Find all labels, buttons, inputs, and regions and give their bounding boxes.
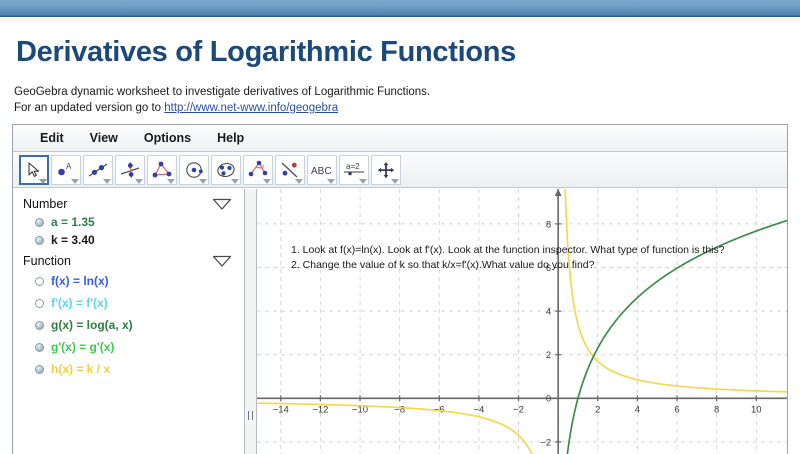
menu-help[interactable]: Help — [204, 129, 257, 147]
visibility-toggle-icon[interactable] — [35, 277, 44, 286]
algebra-item-g-label: g(x) = log(a, x) — [51, 318, 133, 332]
svg-text:10: 10 — [751, 404, 762, 415]
algebra-item-h-label: h(x) = k / x — [51, 362, 110, 376]
svg-text:−2: −2 — [513, 404, 524, 415]
graphics-view[interactable]: −14−12−10−8−6−4−2246810−202468 1. Look a… — [257, 189, 788, 454]
line-through-two-points-icon[interactable] — [83, 155, 113, 185]
svg-text:2: 2 — [546, 350, 551, 361]
algebra-view[interactable]: Number a = 1.35 k = 3.40 Function — [13, 189, 245, 454]
algebra-group-function-label: Function — [23, 254, 71, 268]
svg-text:A: A — [66, 162, 72, 171]
tool-dropdown-corner[interactable] — [327, 179, 335, 184]
menu-bar: Edit View Options Help — [13, 125, 787, 152]
tool-dropdown-corner[interactable] — [263, 179, 271, 184]
algebra-item-f-label: f(x) = ln(x) — [51, 274, 109, 288]
menu-edit[interactable]: Edit — [27, 129, 77, 147]
visibility-toggle-icon[interactable] — [35, 236, 44, 245]
svg-text:−12: −12 — [312, 404, 328, 415]
coordinate-plane[interactable]: −14−12−10−8−6−4−2246810−202468 — [257, 189, 788, 454]
menu-view[interactable]: View — [77, 129, 131, 147]
svg-text:−4: −4 — [473, 404, 484, 415]
angle-icon[interactable]: α — [243, 155, 273, 185]
top-bar-shadow — [0, 18, 800, 24]
tool-dropdown-corner[interactable] — [135, 179, 143, 184]
algebra-group-function-header[interactable]: Function — [13, 252, 244, 270]
reflect-object-icon[interactable] — [275, 155, 305, 185]
polygon-icon[interactable] — [147, 155, 177, 185]
svg-text:8: 8 — [714, 404, 719, 415]
split-pane: Number a = 1.35 k = 3.40 Function — [13, 189, 788, 454]
algebra-item-gprime[interactable]: g'(x) = g'(x) — [13, 336, 244, 358]
browser-top-blue-bar — [0, 0, 800, 17]
geogebra-link[interactable]: http://www.net-www.info/geogebra — [164, 102, 338, 114]
algebra-item-h[interactable]: h(x) = k / x — [13, 358, 244, 380]
visibility-toggle-icon[interactable] — [35, 365, 44, 374]
svg-text:−8: −8 — [394, 404, 405, 415]
tool-dropdown-corner[interactable] — [359, 179, 367, 184]
instruction-line-2: 2. Change the value of k so that k/x=f'(… — [291, 258, 725, 273]
conic-five-points-icon[interactable] — [211, 155, 241, 185]
geogebra-applet[interactable]: Edit View Options Help A — [12, 124, 788, 454]
new-point-icon[interactable]: A — [51, 155, 81, 185]
tool-dropdown-corner[interactable] — [103, 179, 111, 184]
subtitle-line-2-prefix: For an updated version go to — [14, 102, 164, 114]
algebra-item-k-label: k = 3.40 — [51, 233, 95, 247]
splitter-grip-icon[interactable] — [248, 411, 253, 420]
svg-text:6: 6 — [674, 404, 679, 415]
triangle-down-icon[interactable] — [212, 255, 232, 267]
tool-bar: A — [13, 152, 787, 188]
tool-dropdown-corner[interactable] — [295, 179, 303, 184]
insert-text-abc-icon[interactable]: ABC — [307, 155, 337, 185]
pane-splitter[interactable] — [245, 189, 257, 454]
menu-options[interactable]: Options — [131, 129, 204, 147]
subtitle-line-1: GeoGebra dynamic worksheet to investigat… — [14, 84, 430, 100]
svg-text:−14: −14 — [273, 404, 289, 415]
algebra-item-fprime[interactable]: f'(x) = f'(x) — [13, 292, 244, 314]
subtitle-line-2: For an updated version go to http://www.… — [14, 100, 430, 116]
svg-text:8: 8 — [546, 219, 551, 230]
svg-text:−2: −2 — [540, 437, 551, 448]
perpendicular-line-icon[interactable] — [115, 155, 145, 185]
instruction-line-1: 1. Look at f(x)=ln(x). Look at f'(x). Lo… — [291, 243, 725, 258]
visibility-toggle-icon[interactable] — [35, 218, 44, 227]
circle-center-point-icon[interactable] — [179, 155, 209, 185]
page-subtitle: GeoGebra dynamic worksheet to investigat… — [14, 84, 430, 116]
svg-text:2: 2 — [595, 404, 600, 415]
algebra-group-number-header[interactable]: Number — [13, 195, 244, 213]
tool-dropdown-corner[interactable] — [231, 179, 239, 184]
svg-text:ABC: ABC — [311, 166, 332, 177]
visibility-toggle-icon[interactable] — [35, 343, 44, 352]
move-pointer-icon[interactable] — [19, 155, 49, 185]
visibility-toggle-icon[interactable] — [35, 321, 44, 330]
algebra-group-number-label: Number — [23, 197, 67, 211]
algebra-item-a[interactable]: a = 1.35 — [13, 213, 244, 231]
svg-text:0: 0 — [546, 394, 551, 405]
tool-dropdown-corner[interactable] — [39, 179, 47, 184]
svg-text:4: 4 — [546, 306, 551, 317]
algebra-item-k[interactable]: k = 3.40 — [13, 231, 244, 249]
algebra-item-a-label: a = 1.35 — [51, 215, 95, 229]
algebra-item-gprime-label: g'(x) = g'(x) — [51, 340, 114, 354]
tool-dropdown-corner[interactable] — [167, 179, 175, 184]
algebra-item-g[interactable]: g(x) = log(a, x) — [13, 314, 244, 336]
algebra-item-f[interactable]: f(x) = ln(x) — [13, 270, 244, 292]
slider-a-equals-2-icon[interactable]: a=2 — [339, 155, 369, 185]
tool-dropdown-corner[interactable] — [71, 179, 79, 184]
triangle-down-icon[interactable] — [212, 198, 232, 210]
tool-dropdown-corner[interactable] — [391, 179, 399, 184]
svg-text:4: 4 — [635, 404, 640, 415]
graph-instruction-text: 1. Look at f(x)=ln(x). Look at f'(x). Lo… — [291, 243, 725, 273]
algebra-item-fprime-label: f'(x) = f'(x) — [51, 296, 108, 310]
page-title: Derivatives of Logarithmic Functions — [16, 36, 516, 69]
svg-text:a=2: a=2 — [346, 162, 360, 171]
move-graphics-view-icon[interactable] — [371, 155, 401, 185]
tool-dropdown-corner[interactable] — [199, 179, 207, 184]
visibility-toggle-icon[interactable] — [35, 299, 44, 308]
